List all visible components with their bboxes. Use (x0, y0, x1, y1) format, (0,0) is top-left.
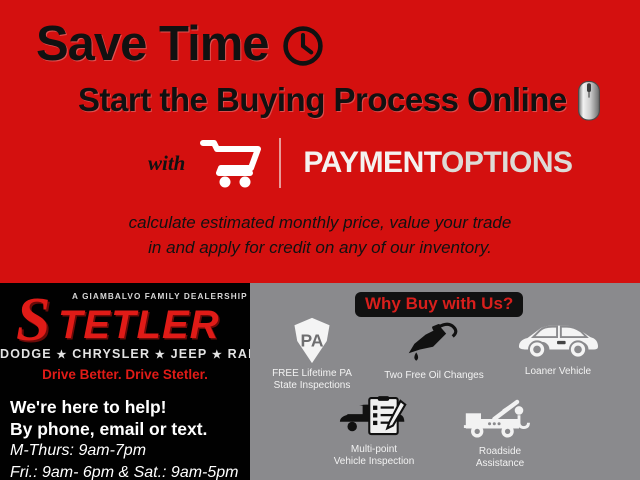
payment-options-lockup: with PAYMENTOPTIONS (148, 132, 573, 194)
star-icon: ★ (212, 349, 223, 361)
lockup-divider (279, 138, 281, 188)
stetler-logo: A GIAMBALVO FAMILY DEALERSHIP S TETLER D… (0, 283, 250, 375)
perk-caption: Multi-point Vehicle Inspection (320, 444, 428, 468)
car-clipboard-inspection-icon (320, 393, 428, 441)
hours-weekday: M-Thurs: 9am-7pm (10, 440, 250, 462)
brand-dodge: DODGE (0, 347, 52, 361)
perk-caption: Two Free Oil Changes (380, 370, 488, 382)
payment-options-wordmark: PAYMENTOPTIONS (303, 146, 572, 180)
star-icon: ★ (57, 349, 68, 361)
shopping-cart-icon (199, 137, 265, 189)
oil-can-icon (380, 319, 488, 367)
tow-truck-icon (446, 395, 554, 443)
dealer-info-panel: A GIAMBALVO FAMILY DEALERSHIP S TETLER D… (0, 283, 250, 480)
hero-headline-primary: Save Time (36, 16, 325, 72)
hero-headline-secondary: Start the Buying Process Online (78, 78, 601, 122)
help-line-2: By phone, email or text. (10, 418, 250, 440)
hero-copy-line-2: in and apply for credit on any of our in… (0, 235, 640, 260)
brand-jeep: JEEP (171, 347, 208, 361)
perk-roadside-assistance: Roadside Assistance (446, 395, 554, 470)
perk-caption-line-1: Two Free Oil Changes (380, 370, 488, 382)
brand-chrysler: CHRYSLER (72, 347, 150, 361)
hero-headline-primary-text: Save Time (36, 16, 269, 72)
perk-loaner-vehicle: Loaner Vehicle (504, 315, 612, 378)
wordmark-options: OPTIONS (441, 146, 573, 179)
perk-free-lifetime-pa-inspections: PA FREE Lifetime PA State Inspections (258, 317, 366, 392)
perk-caption: Loaner Vehicle (504, 366, 612, 378)
hero-body-copy: calculate estimated monthly price, value… (0, 210, 640, 260)
perk-two-free-oil-changes: Two Free Oil Changes (380, 319, 488, 382)
dealership-advertisement: Save Time Start the Buying Process Onlin… (0, 0, 640, 480)
perk-caption-line-1: FREE Lifetime PA (258, 368, 366, 380)
svg-text:PA: PA (300, 331, 323, 351)
help-line-1: We're here to help! (10, 396, 250, 418)
perk-caption-line-1: Roadside (446, 446, 554, 458)
why-buy-title: Why Buy with Us? (355, 292, 523, 317)
wordmark-payment: PAYMENT (303, 146, 441, 179)
hero-banner: Save Time Start the Buying Process Onlin… (0, 0, 640, 283)
brand-list: DODGE ★ CHRYSLER ★ JEEP ★ RAM (0, 347, 250, 361)
star-icon: ★ (155, 349, 166, 361)
perk-caption-line-2: Assistance (446, 458, 554, 470)
why-buy-panel: Why Buy with Us? PA FREE Lifetime PA Sta… (250, 283, 640, 480)
computer-mouse-icon (577, 78, 601, 122)
with-label: with (148, 151, 185, 176)
perk-caption-line-2: Vehicle Inspection (320, 456, 428, 468)
perk-caption: FREE Lifetime PA State Inspections (258, 368, 366, 392)
family-dealership-tagline: A GIAMBALVO FAMILY DEALERSHIP (72, 292, 248, 301)
dealer-slogan: Drive Better. Drive Stetler. (0, 367, 250, 382)
pa-keystone-icon: PA (258, 317, 366, 365)
contact-hours-block: We're here to help! By phone, email or t… (10, 396, 250, 480)
logo-initial-s: S (16, 289, 50, 351)
logo-wordmark: TETLER (58, 305, 220, 345)
car-icon (504, 315, 612, 363)
perk-caption-line-1: Loaner Vehicle (504, 366, 612, 378)
perk-caption-line-2: State Inspections (258, 380, 366, 392)
perk-caption-line-1: Multi-point (320, 444, 428, 456)
perk-multipoint-vehicle-inspection: Multi-point Vehicle Inspection (320, 393, 428, 468)
hero-copy-line-1: calculate estimated monthly price, value… (0, 210, 640, 235)
hero-headline-secondary-text: Start the Buying Process Online (78, 81, 567, 119)
hours-weekend: Fri.: 9am- 6pm & Sat.: 9am-5pm (10, 462, 250, 480)
clock-icon (281, 24, 325, 68)
perk-caption: Roadside Assistance (446, 446, 554, 470)
